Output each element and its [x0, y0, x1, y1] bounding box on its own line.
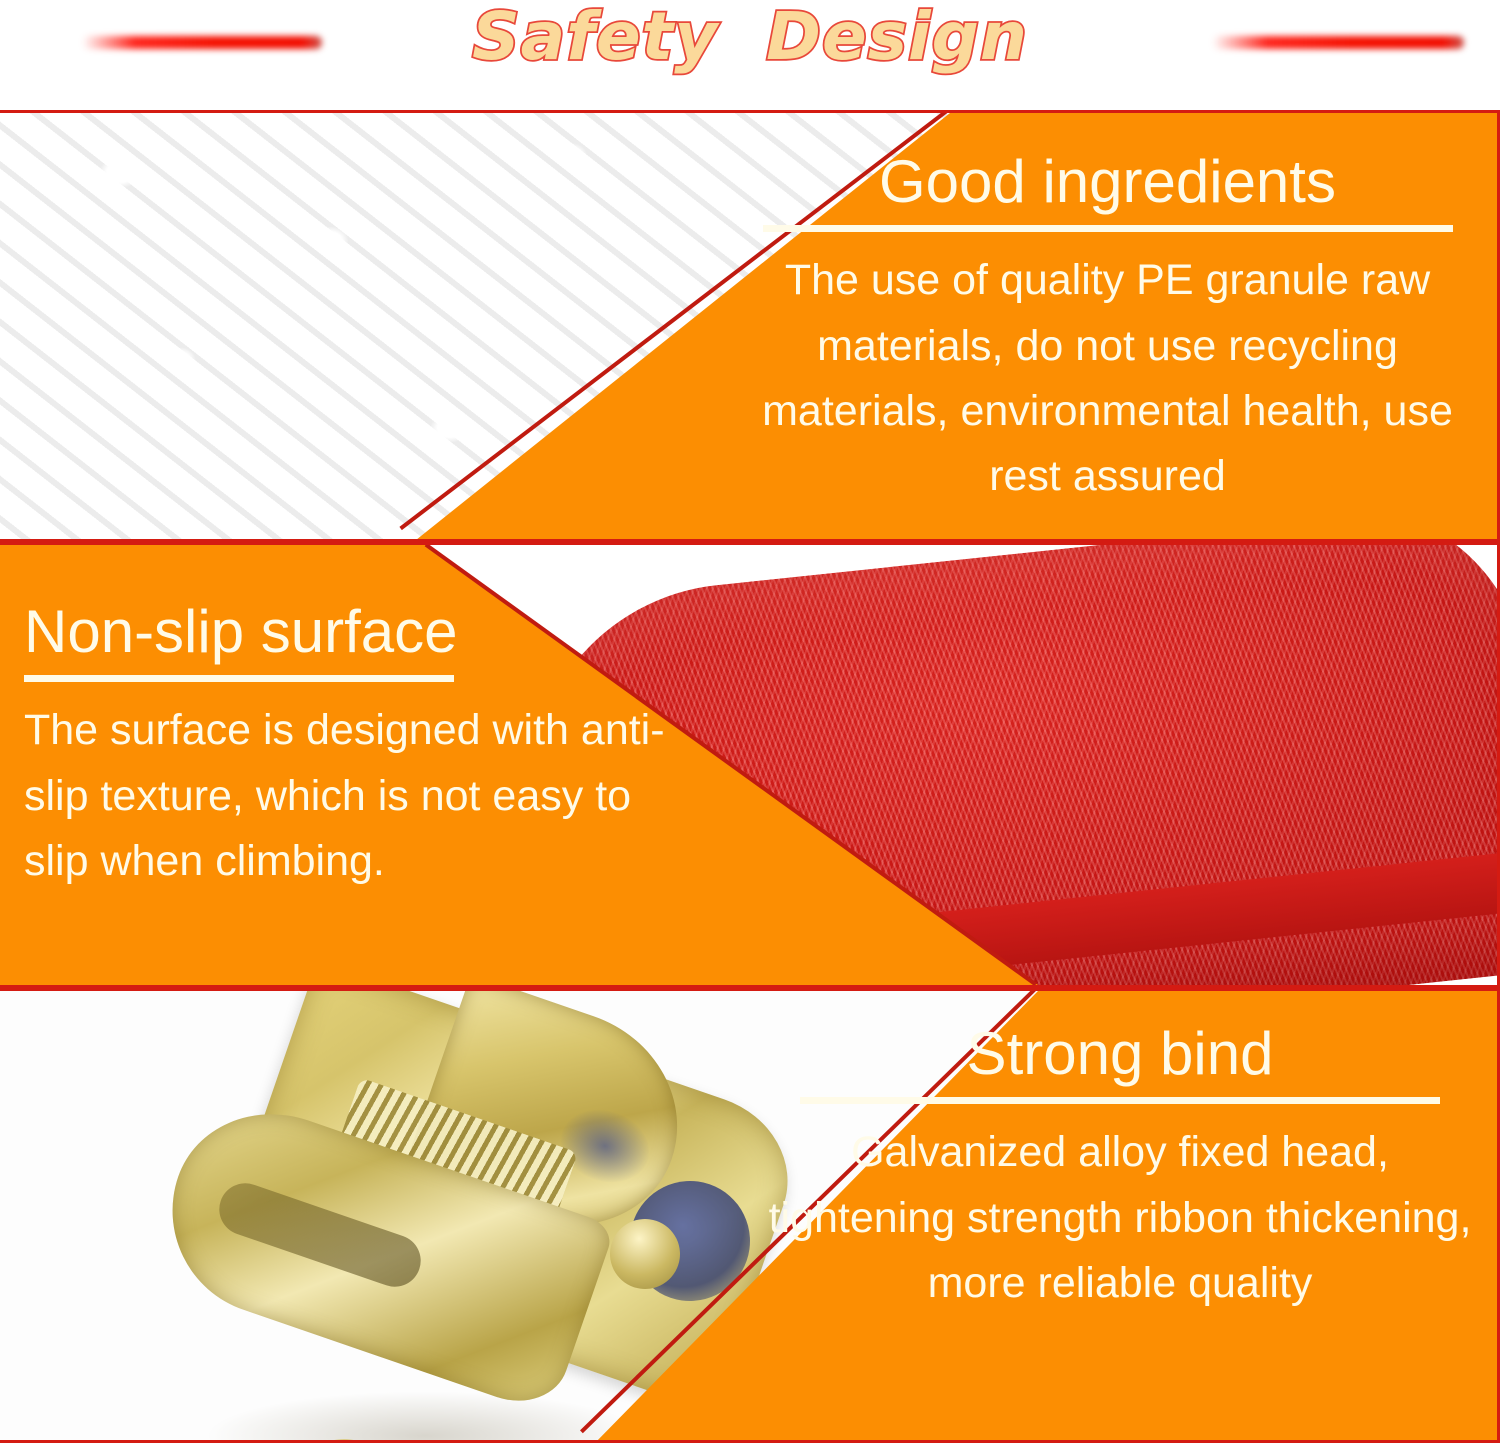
page-title: Safety Design	[0, 0, 1500, 76]
panel1-body: The use of quality PE granule raw materi…	[735, 248, 1480, 509]
panel3-body: Galvanized alloy fixed head, tightening …	[760, 1120, 1480, 1316]
panel2-body: The surface is designed with anti-slip t…	[24, 698, 684, 894]
panel3-text-block: Strong bind Galvanized alloy fixed head,…	[760, 1023, 1480, 1316]
panel-strong-bind: Strong bind Galvanized alloy fixed head,…	[0, 988, 1500, 1443]
page-header: Safety Design	[0, 0, 1500, 110]
buckle-shadow	[205, 1391, 645, 1443]
infographic-page: Safety Design Good ingredients The use o…	[0, 0, 1500, 1443]
panel2-heading: Non-slip surface	[24, 601, 704, 662]
panel3-underline	[800, 1097, 1440, 1104]
panel-non-slip-surface: Non-slip surface The surface is designed…	[0, 542, 1500, 988]
panel-good-ingredients: Good ingredients The use of quality PE g…	[0, 110, 1500, 542]
panel1-underline	[763, 225, 1453, 232]
panel3-heading: Strong bind	[760, 1023, 1480, 1084]
panel2-underline	[24, 675, 454, 682]
panel2-text-block: Non-slip surface The surface is designed…	[24, 601, 704, 894]
panel1-text-block: Good ingredients The use of quality PE g…	[735, 151, 1480, 510]
panel1-heading: Good ingredients	[735, 151, 1480, 212]
